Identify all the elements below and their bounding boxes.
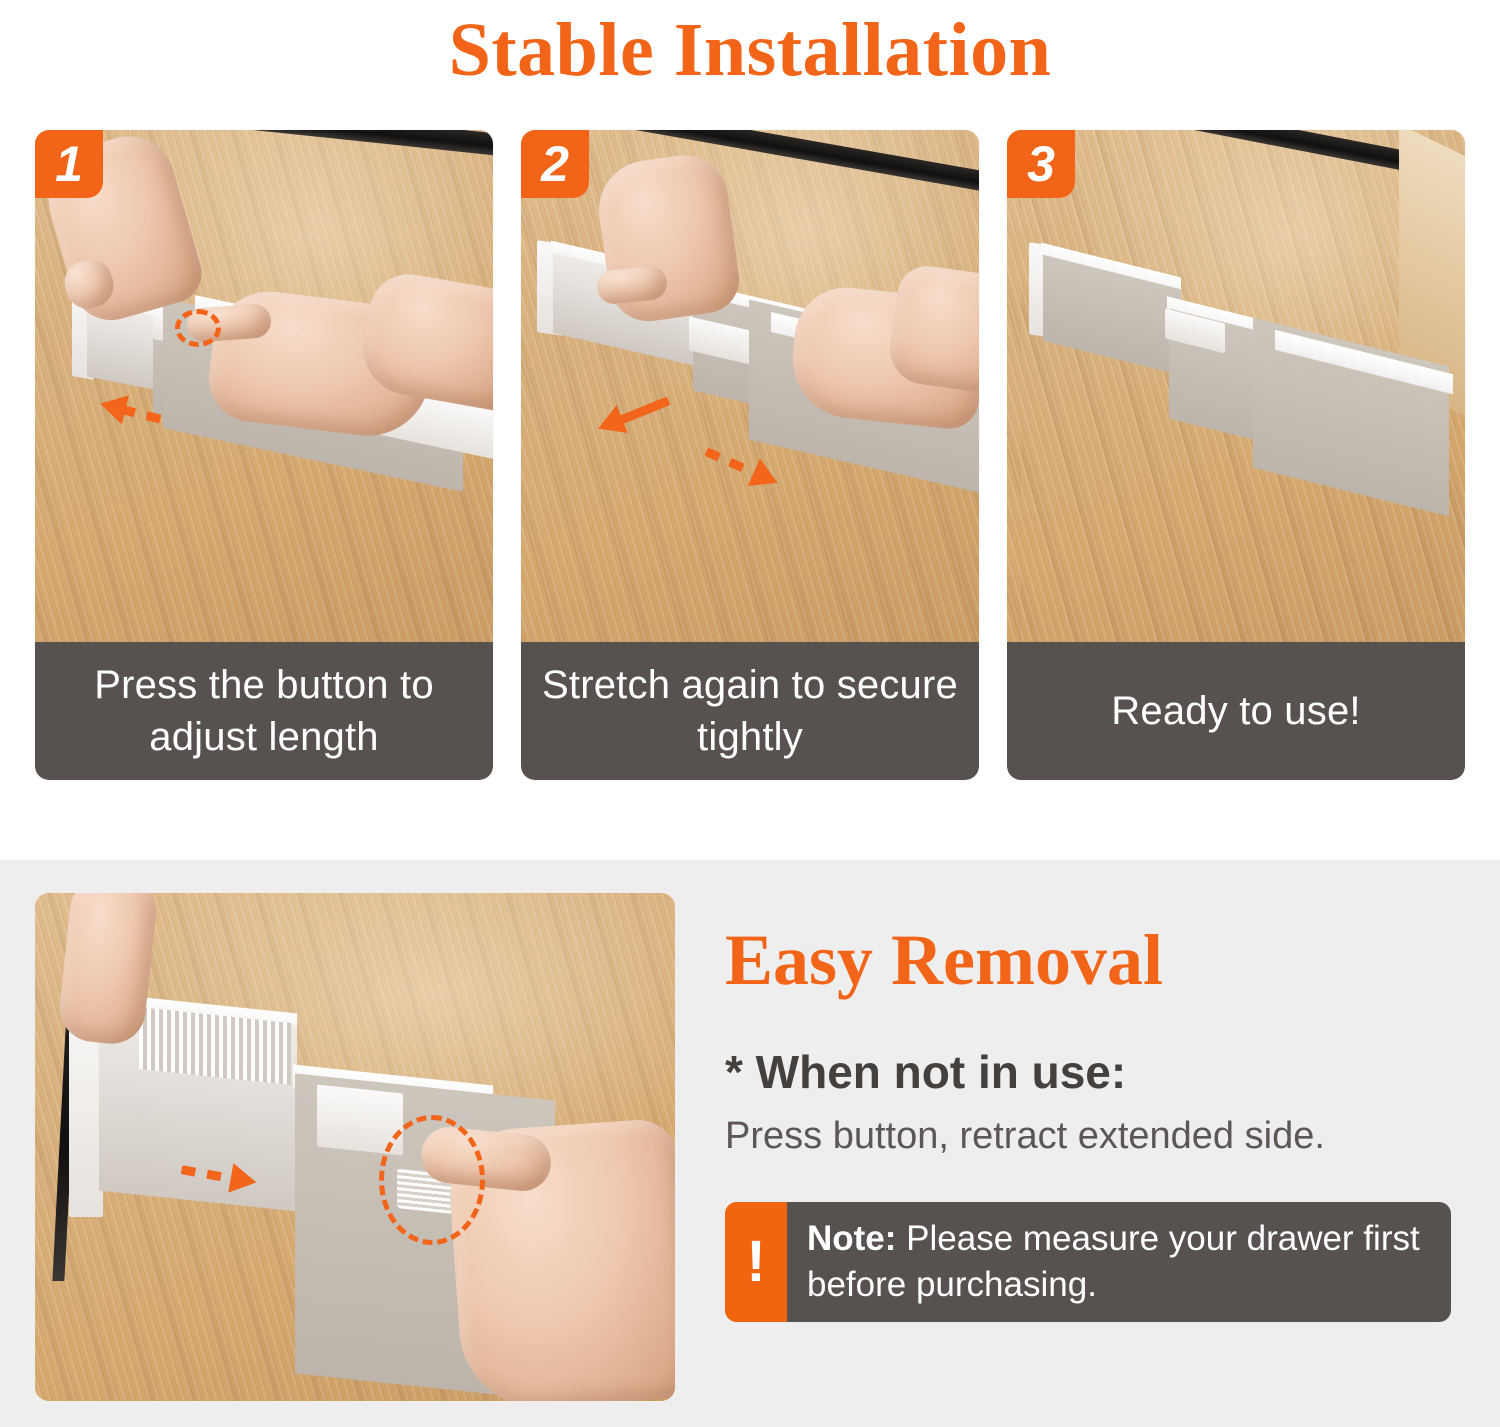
button-highlight-circle [175,309,221,347]
note-body: Please measure your drawer first before … [807,1219,1420,1304]
easy-removal-photo [35,893,675,1401]
step-card-3: 3 Ready to use! [1007,130,1465,780]
note-label: Note: [807,1219,896,1258]
installation-steps-row: 1 Press the button to adjust length [35,130,1465,780]
step-badge-2: 2 [521,130,589,198]
step-caption-3: Ready to use! [1007,642,1465,780]
step-caption-2: Stretch again to secure tightly [521,642,979,780]
step-1-photo [35,130,493,642]
step-3-photo [1007,130,1465,642]
step-badge-1: 1 [35,130,103,198]
step-card-1: 1 Press the button to adjust length [35,130,493,780]
note-banner: ! Note: Please measure your drawer first… [725,1202,1451,1322]
step-card-2: 2 Stretch again to secure tightly [521,130,979,780]
note-text: Note: Please measure your drawer first b… [787,1202,1451,1322]
step-caption-1: Press the button to adjust length [35,642,493,780]
page-title: Stable Installation [0,2,1500,98]
exclamation-icon: ! [725,1202,787,1322]
removal-instruction: Press button, retract extended side. [725,1112,1455,1160]
step-badge-3: 3 [1007,130,1075,198]
infographic-page: Stable Installation [0,0,1500,1427]
button-highlight-circle [379,1115,485,1245]
step-2-photo [521,130,979,642]
easy-removal-title: Easy Removal [725,920,1455,1000]
when-not-in-use-label: * When not in use: [725,1044,1455,1100]
stable-installation-section: Stable Installation [0,0,1500,860]
easy-removal-section: Easy Removal * When not in use: Press bu… [0,860,1500,1427]
easy-removal-text-column: Easy Removal * When not in use: Press bu… [725,920,1455,1322]
